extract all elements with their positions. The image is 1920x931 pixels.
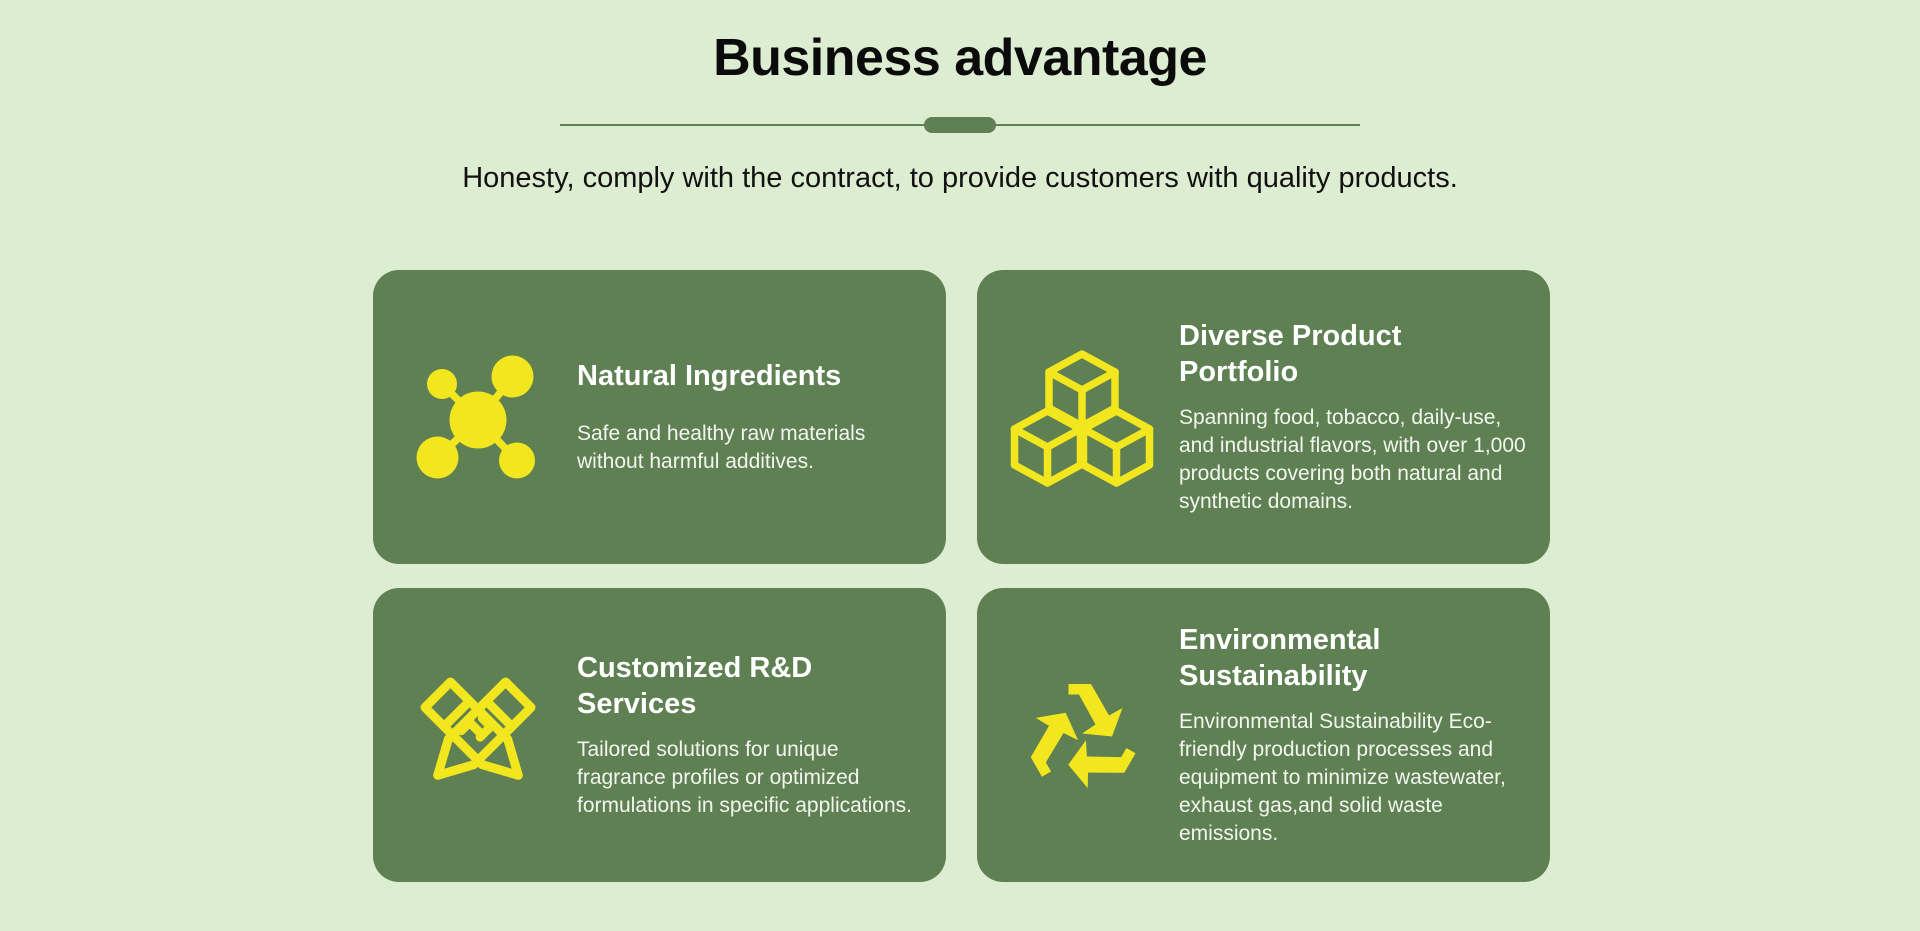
card-title: Customized R&D Services <box>577 650 924 723</box>
card-description: Environmental Sustainability Eco-friendl… <box>1179 708 1528 848</box>
section-header: Business advantage Honesty, comply with … <box>0 0 1920 196</box>
section-subtitle: Honesty, comply with the contract, to pr… <box>0 161 1920 196</box>
card-description: Spanning food, tobacco, daily-use, and i… <box>1179 404 1528 516</box>
card-body: Customized R&D Services Tailored solutio… <box>567 650 924 820</box>
cubes-icon <box>1007 342 1157 492</box>
card-description: Safe and healthy raw materials without h… <box>577 420 924 476</box>
advantage-card-environmental-sustainability[interactable]: Environmental Sustainability Environment… <box>977 588 1550 882</box>
recycling-icon <box>1007 660 1157 810</box>
title-divider <box>560 117 1360 133</box>
card-title: Environmental Sustainability <box>1179 622 1528 695</box>
advantage-card-grid: Natural Ingredients Safe and healthy raw… <box>373 270 1550 882</box>
divider-pill <box>924 117 996 133</box>
advantage-card-diverse-product-portfolio[interactable]: Diverse Product Portfolio Spanning food,… <box>977 270 1550 564</box>
card-title: Diverse Product Portfolio <box>1179 318 1528 391</box>
molecule-icon <box>403 342 553 492</box>
advantage-card-customized-rnd-services[interactable]: Customized R&D Services Tailored solutio… <box>373 588 946 882</box>
advantage-card-natural-ingredients[interactable]: Natural Ingredients Safe and healthy raw… <box>373 270 946 564</box>
card-description: Tailored solutions for unique fragrance … <box>577 736 924 820</box>
card-title: Natural Ingredients <box>577 358 924 394</box>
business-advantage-section: Business advantage Honesty, comply with … <box>0 0 1920 931</box>
crossed-pencils-icon <box>403 660 553 810</box>
card-body: Diverse Product Portfolio Spanning food,… <box>1171 318 1528 516</box>
card-body: Environmental Sustainability Environment… <box>1171 622 1528 848</box>
card-body: Natural Ingredients Safe and healthy raw… <box>567 358 924 476</box>
page-title: Business advantage <box>0 30 1920 87</box>
